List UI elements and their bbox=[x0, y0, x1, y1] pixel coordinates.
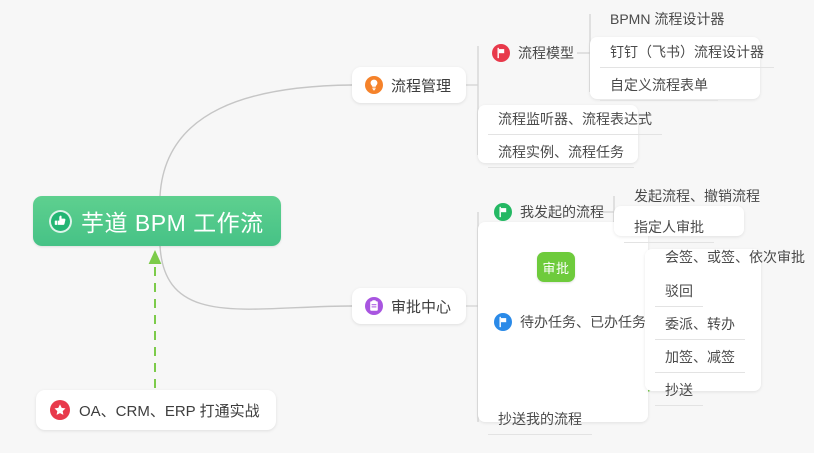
leaf-start-cancel-process[interactable]: 发起流程、撤销流程 bbox=[624, 188, 770, 211]
star-icon bbox=[50, 400, 70, 420]
leaf-bpmn-designer[interactable]: BPMN 流程设计器 bbox=[600, 11, 734, 34]
integration-card-label: OA、CRM、ERP 打通实战 bbox=[79, 400, 260, 421]
branch-process-management[interactable]: 流程管理 bbox=[352, 67, 466, 103]
integration-card[interactable]: OA、CRM、ERP 打通实战 bbox=[36, 390, 276, 430]
thumbs-up-icon bbox=[49, 210, 72, 233]
leaf-delegate-transfer[interactable]: 委派、转办 bbox=[655, 316, 745, 340]
node-label: 待办任务、已办任务 bbox=[520, 312, 646, 332]
leaf-cc[interactable]: 抄送 bbox=[655, 382, 703, 406]
mindmap-canvas: 芋道 BPM 工作流 流程管理 流程模型 BPMN 流程设计器 钉钉（飞书）流程… bbox=[0, 0, 814, 453]
leaf-reject[interactable]: 驳回 bbox=[655, 283, 703, 307]
node-todo-done-tasks[interactable]: 待办任务、已办任务 bbox=[494, 312, 646, 332]
leaf-custom-form[interactable]: 自定义流程表单 bbox=[600, 77, 718, 101]
flag-icon bbox=[494, 203, 512, 221]
flag-icon bbox=[494, 313, 512, 331]
root-node[interactable]: 芋道 BPM 工作流 bbox=[33, 196, 281, 246]
flag-icon bbox=[492, 44, 510, 62]
leaf-designated-approver[interactable]: 指定人审批 bbox=[624, 219, 714, 243]
leaf-add-remove-sign[interactable]: 加签、减签 bbox=[655, 349, 745, 373]
branch-label: 审批中心 bbox=[391, 296, 451, 317]
leaf-process-instance[interactable]: 流程实例、流程任务 bbox=[488, 144, 634, 168]
leaf-countersign[interactable]: 会签、或签、依次审批 bbox=[655, 249, 814, 272]
edge-root-to-process bbox=[160, 85, 352, 196]
node-label: 我发起的流程 bbox=[520, 202, 604, 222]
leaf-process-listener[interactable]: 流程监听器、流程表达式 bbox=[488, 111, 662, 135]
branch-label: 流程管理 bbox=[391, 75, 451, 96]
node-process-model[interactable]: 流程模型 bbox=[492, 43, 574, 63]
approval-badge[interactable]: 审批 bbox=[537, 252, 575, 282]
node-label: 流程模型 bbox=[518, 43, 574, 63]
edge-root-to-approval bbox=[160, 246, 352, 309]
clipboard-icon bbox=[365, 297, 383, 315]
leaf-dingtalk-designer[interactable]: 钉钉（飞书）流程设计器 bbox=[600, 44, 774, 68]
root-label: 芋道 BPM 工作流 bbox=[81, 204, 264, 238]
approval-badge-label: 审批 bbox=[542, 258, 569, 277]
lightbulb-icon bbox=[365, 76, 383, 94]
leaf-cc-my-processes[interactable]: 抄送我的流程 bbox=[488, 411, 592, 435]
node-my-started-processes[interactable]: 我发起的流程 bbox=[494, 202, 604, 222]
branch-approval-center[interactable]: 审批中心 bbox=[352, 288, 466, 324]
